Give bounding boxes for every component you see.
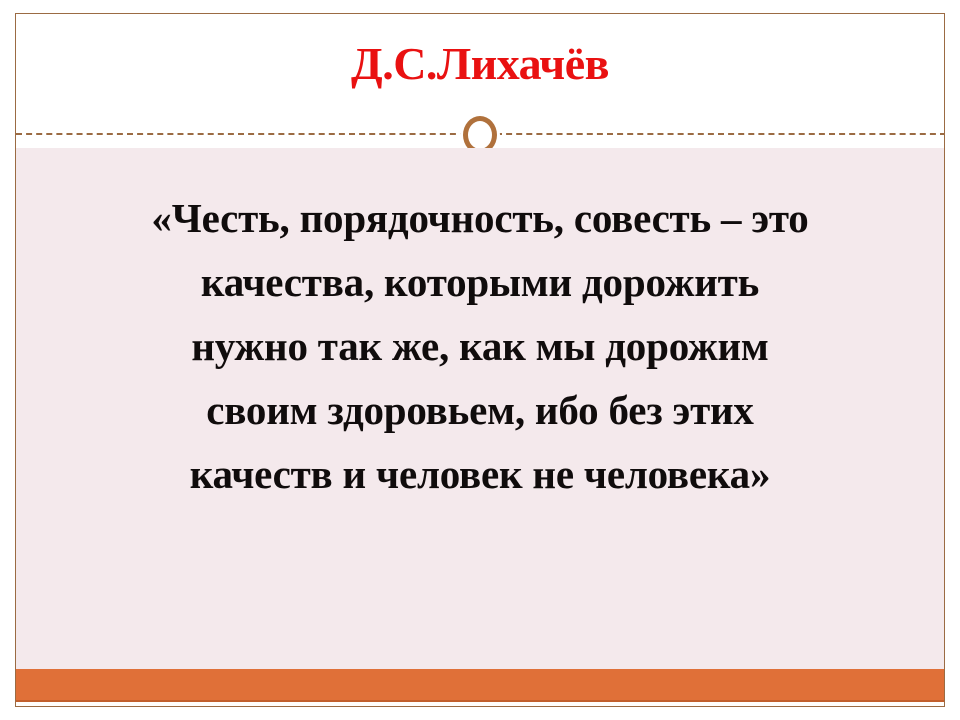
slide-title: Д.С.Лихачёв xyxy=(16,38,944,90)
quote-line: качеств и человек не человека» xyxy=(16,442,944,506)
dashed-rule-right-icon xyxy=(496,133,945,135)
quote-line: «Честь, порядочность, совесть – это xyxy=(16,186,944,250)
slide-canvas: Д.С.Лихачёв «Честь, порядочность, совест… xyxy=(15,13,945,707)
quote-line: нужно так же, как мы дорожим xyxy=(16,314,944,378)
quote-text-block: «Честь, порядочность, совесть – это каче… xyxy=(16,186,944,506)
quote-line: качества, которыми дорожить xyxy=(16,250,944,314)
quote-line: своим здоровьем, ибо без этих xyxy=(16,378,944,442)
slide-footer-bar xyxy=(16,669,944,702)
slide-body: «Честь, порядочность, совесть – это каче… xyxy=(16,148,944,673)
dashed-rule-left-icon xyxy=(16,133,466,135)
